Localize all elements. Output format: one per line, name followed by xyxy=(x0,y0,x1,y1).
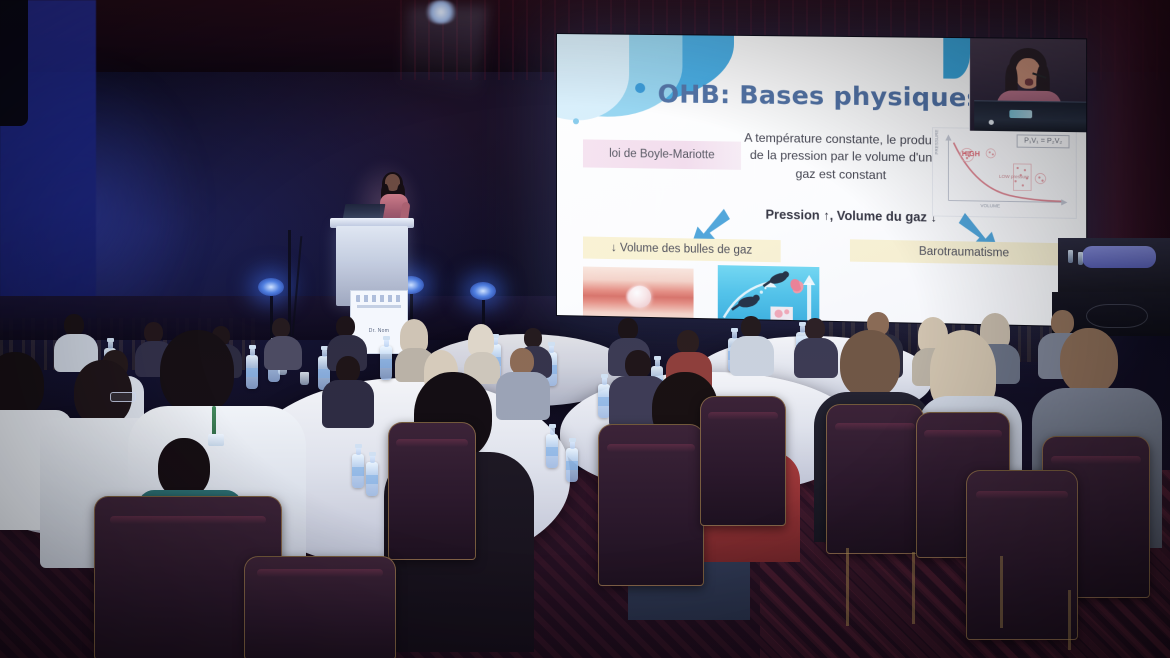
water-bottle xyxy=(1078,252,1083,265)
conference-photo: Dr. Nom OHB: Bases physiques loi de Boyl… xyxy=(0,0,1170,658)
decompression-divers-illustration xyxy=(718,265,820,326)
bottle-cap xyxy=(654,356,661,360)
projection-screen: OHB: Bases physiques loi de Boyle-Mariot… xyxy=(556,33,1087,327)
lamp-icon xyxy=(470,282,496,300)
person-body xyxy=(496,372,550,420)
water-bottle xyxy=(1068,250,1073,263)
person-head xyxy=(64,314,84,336)
bottle-label xyxy=(246,368,258,377)
person-head xyxy=(158,438,210,498)
boyle-law-graph: P₁V₁ = P₂V₂ HIGH LOW pressure PRESSURE V… xyxy=(932,127,1077,219)
slide-corner-accent xyxy=(943,36,970,79)
podium: Dr. Nom xyxy=(330,168,414,308)
boyle-mariotte-label: loi de Boyle-Mariotte xyxy=(609,148,715,162)
bottle-cap xyxy=(249,345,256,349)
person-body xyxy=(730,336,774,376)
person-head xyxy=(625,350,651,379)
bottle-cap xyxy=(549,424,556,428)
bottle-cap xyxy=(383,336,390,340)
podium-sign-name: Dr. Nom xyxy=(369,328,389,334)
bottle-cap xyxy=(731,328,738,332)
drinking-glass xyxy=(300,372,309,385)
graph-y-axis-label: PRESSURE xyxy=(934,129,939,154)
person-head xyxy=(144,322,163,343)
person-head xyxy=(272,318,290,338)
lamp-icon xyxy=(258,278,284,296)
banquet-chair xyxy=(388,422,476,560)
bottle-cap xyxy=(601,374,608,378)
person-head-bald xyxy=(840,330,900,398)
bottle-cap xyxy=(107,338,114,342)
presenter-video-feed xyxy=(969,37,1086,132)
bottle-cap xyxy=(569,438,576,442)
head-table-cloth xyxy=(1082,246,1156,268)
bottle-label xyxy=(380,359,392,368)
banquet-chair xyxy=(598,424,704,586)
chair-leg xyxy=(1000,556,1003,628)
person-head xyxy=(741,316,761,338)
bottle-label xyxy=(318,369,330,378)
graph-annotation-high: HIGH xyxy=(962,151,980,158)
person-head-bald xyxy=(1060,328,1118,394)
podium-sign-logos xyxy=(356,295,402,302)
podium-body: Dr. Nom xyxy=(336,226,408,306)
chair-leg xyxy=(846,548,849,626)
ceiling-spotlight-icon xyxy=(424,0,458,24)
person-body xyxy=(264,336,302,370)
water-bottle xyxy=(366,462,378,496)
graph-annotation-low: LOW pressure xyxy=(999,174,1029,180)
bottle-label xyxy=(366,475,378,484)
left-outcome-label: ↓ Volume des bulles de gaz xyxy=(611,242,752,257)
law-statement-text: A température constante, le produit de l… xyxy=(744,130,938,185)
person-head xyxy=(677,330,699,354)
wall-panel-dark-block xyxy=(0,0,28,126)
bottle-label xyxy=(566,461,578,470)
laptop-screen-glyph xyxy=(1009,110,1032,118)
laptop-indicator-dot xyxy=(989,120,994,125)
water-bottle xyxy=(546,434,558,468)
water-bottle xyxy=(566,448,578,482)
person-head xyxy=(618,318,638,340)
graph-x-axis-label: VOLUME xyxy=(980,203,1000,208)
slide-dot-decoration xyxy=(573,118,579,124)
eyeglasses-icon xyxy=(110,392,136,402)
boyle-mariotte-label-box: loi de Boyle-Mariotte xyxy=(583,139,741,169)
spotlight-beam xyxy=(396,6,489,126)
left-outcome-box: ↓ Volume des bulles de gaz xyxy=(583,236,781,262)
right-outcome-box: Barotraumatisme xyxy=(850,239,1079,266)
chair-leg xyxy=(912,552,915,624)
person-head xyxy=(805,318,825,340)
lectern-laptop xyxy=(974,100,1086,132)
venue-logo xyxy=(1086,304,1148,328)
chair-leg xyxy=(1068,590,1071,650)
person-body xyxy=(322,380,374,428)
right-outcome-label: Barotraumatisme xyxy=(919,246,1009,260)
bottle-cap xyxy=(355,444,362,448)
bottle-label xyxy=(546,447,558,456)
name-badge xyxy=(208,434,224,446)
podium-sign-subtitle-line xyxy=(357,305,401,308)
gas-bubble xyxy=(629,285,651,308)
banquet-chair xyxy=(700,396,786,526)
bottle-cap xyxy=(369,452,376,456)
person-head-bald xyxy=(510,348,534,375)
water-bottle xyxy=(246,355,258,389)
water-bottle xyxy=(352,454,364,488)
bottle-label xyxy=(352,467,364,476)
person-head xyxy=(160,330,234,414)
divers-svg xyxy=(718,265,820,326)
person-head xyxy=(336,316,355,337)
boyle-formula: P₁V₁ = P₂V₂ xyxy=(1017,134,1070,148)
person-head xyxy=(524,328,542,348)
banquet-chair xyxy=(244,556,396,658)
banquet-chair xyxy=(826,404,924,554)
presenter-mouth xyxy=(1025,78,1033,85)
person-head-bald xyxy=(1051,310,1074,335)
water-bottle xyxy=(380,346,392,380)
person-head xyxy=(336,356,360,383)
person-body xyxy=(794,338,838,378)
presentation-slide: OHB: Bases physiques loi de Boyle-Mariot… xyxy=(557,34,1086,326)
bottle-cap xyxy=(548,342,555,346)
banquet-chair xyxy=(966,470,1078,640)
